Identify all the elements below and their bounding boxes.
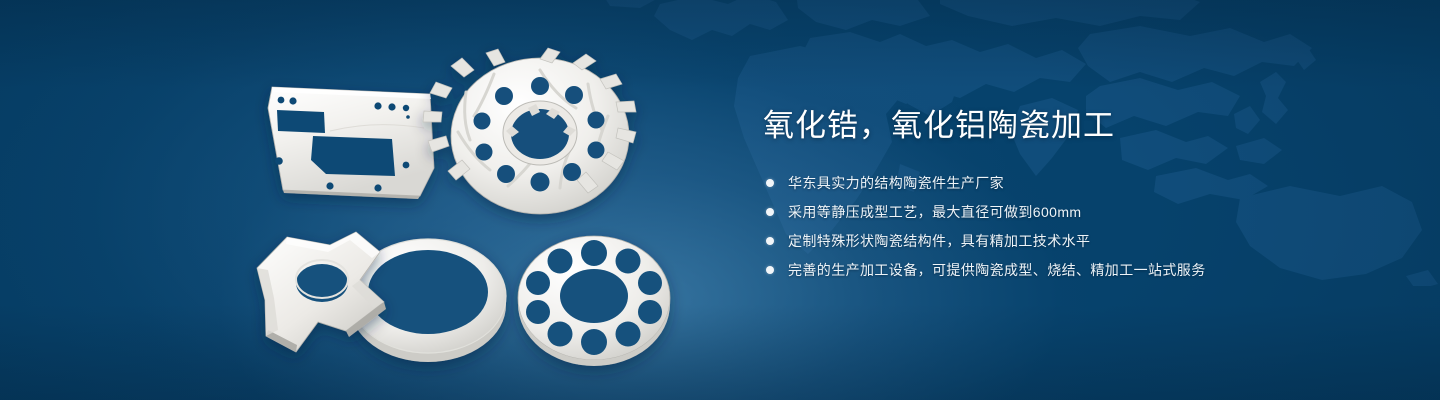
bullet-dot-icon [766,179,774,187]
bullet-dot-icon [766,237,774,245]
product-banner: 氧化锆，氧化铝陶瓷加工 华东具实力的结构陶瓷件生产厂家 采用等静压成型工艺，最大… [0,0,1440,400]
list-item: 定制特殊形状陶瓷结构件，具有精加工技术水平 [766,230,1383,252]
banner-copy: 氧化锆，氧化铝陶瓷加工 华东具实力的结构陶瓷件生产厂家 采用等静压成型工艺，最大… [763,106,1383,288]
ceramic-perforated-ring [518,236,670,366]
feature-text: 完善的生产加工设备，可提供陶瓷成型、烧结、精加工一站式服务 [788,259,1206,281]
ceramic-impeller-disc [423,48,636,214]
list-item: 华东具实力的结构陶瓷件生产厂家 [766,172,1383,194]
feature-text: 定制特殊形状陶瓷结构件，具有精加工技术水平 [788,230,1090,252]
bullet-dot-icon [766,208,774,216]
product-photo-group [0,0,760,400]
feature-text: 采用等静压成型工艺，最大直径可做到600mm [788,201,1081,223]
list-item: 采用等静压成型工艺，最大直径可做到600mm [766,201,1383,223]
bullet-dot-icon [766,266,774,274]
list-item: 完善的生产加工设备，可提供陶瓷成型、烧结、精加工一站式服务 [766,259,1383,281]
ceramic-plate-with-cutouts [268,87,434,199]
feature-text: 华东具实力的结构陶瓷件生产厂家 [788,172,1004,194]
page-title: 氧化锆，氧化铝陶瓷加工 [763,106,1383,146]
feature-list: 华东具实力的结构陶瓷件生产厂家 采用等静压成型工艺，最大直径可做到600mm 定… [766,172,1383,281]
